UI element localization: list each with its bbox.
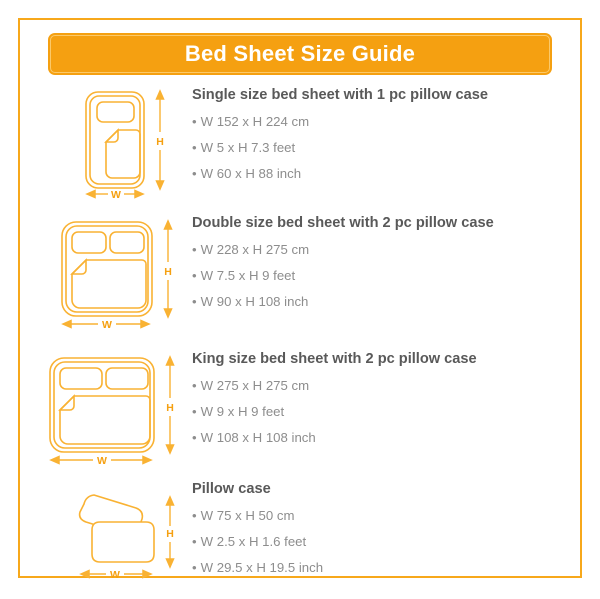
king-text-block: King size bed sheet with 2 pc pillow cas… (192, 352, 560, 457)
bullet-dot: • (192, 114, 197, 129)
bullet-text: W 29.5 x H 19.5 inch (201, 560, 323, 575)
bullet-dot: • (192, 242, 197, 257)
svg-text:W: W (97, 455, 107, 467)
svg-text:H: H (164, 266, 172, 278)
bullet-text: W 108 x H 108 inch (201, 430, 316, 445)
bullet-text: W 75 x H 50 cm (201, 508, 295, 523)
pillow-text-block: Pillow case •W 75 x H 50 cm •W 2.5 x H 1… (192, 482, 560, 587)
title-banner-inner: Bed Sheet Size Guide (50, 35, 550, 73)
page-title: Bed Sheet Size Guide (185, 43, 415, 65)
bullet-text: W 90 x H 108 inch (201, 294, 309, 309)
single-text-block: Single size bed sheet with 1 pc pillow c… (192, 88, 560, 193)
bullet-dot: • (192, 378, 197, 393)
list-item: •W 75 x H 50 cm (192, 509, 560, 522)
title-banner: Bed Sheet Size Guide (48, 33, 552, 75)
list-item: •W 2.5 x H 1.6 feet (192, 535, 560, 548)
bullet-dot: • (192, 508, 197, 523)
bullet-dot: • (192, 166, 197, 181)
list-item: •W 29.5 x H 19.5 inch (192, 561, 560, 574)
list-item: •W 275 x H 275 cm (192, 379, 560, 392)
bullet-dot: • (192, 294, 197, 309)
section-pillow-case: H W Pillow case •W 75 x H 50 cm •W 2.5 x… (40, 482, 560, 594)
bullet-dot: • (192, 268, 197, 283)
bullet-text: W 228 x H 275 cm (201, 242, 309, 257)
bullet-text: W 5 x H 7.3 feet (201, 140, 296, 155)
king-bullet-list: •W 275 x H 275 cm •W 9 x H 9 feet •W 108… (192, 379, 560, 445)
bullet-text: W 7.5 x H 9 feet (201, 268, 296, 283)
list-item: •W 9 x H 9 feet (192, 405, 560, 418)
double-bullet-list: •W 228 x H 275 cm •W 7.5 x H 9 feet •W 9… (192, 243, 560, 309)
svg-text:H: H (156, 136, 164, 148)
bullet-text: W 60 x H 88 inch (201, 166, 301, 181)
single-bullet-list: •W 152 x H 224 cm •W 5 x H 7.3 feet •W 6… (192, 115, 560, 181)
section-double: H W Double size bed sheet with 2 pc pill… (40, 216, 560, 344)
list-item: •W 152 x H 224 cm (192, 115, 560, 128)
king-bed-diagram: H W (40, 352, 190, 464)
double-bed-diagram: H W (40, 216, 190, 328)
single-bed-diagram: H W (40, 88, 190, 200)
svg-text:W: W (102, 319, 112, 331)
double-text-block: Double size bed sheet with 2 pc pillow c… (192, 216, 560, 321)
bullet-dot: • (192, 404, 197, 419)
svg-text:W: W (110, 569, 120, 581)
list-item: •W 90 x H 108 inch (192, 295, 560, 308)
section-king: H W King size bed sheet with 2 pc pillow… (40, 352, 560, 476)
list-item: •W 5 x H 7.3 feet (192, 141, 560, 154)
pillow-case-diagram: H W (40, 482, 190, 594)
pillow-bullet-list: •W 75 x H 50 cm •W 2.5 x H 1.6 feet •W 2… (192, 509, 560, 575)
bullet-dot: • (192, 140, 197, 155)
bullet-text: W 152 x H 224 cm (201, 114, 309, 129)
list-item: •W 7.5 x H 9 feet (192, 269, 560, 282)
svg-text:H: H (166, 402, 174, 414)
bullet-text: W 9 x H 9 feet (201, 404, 285, 419)
list-item: •W 108 x H 108 inch (192, 431, 560, 444)
bullet-text: W 275 x H 275 cm (201, 378, 309, 393)
double-heading: Double size bed sheet with 2 pc pillow c… (192, 216, 560, 231)
bullet-text: W 2.5 x H 1.6 feet (201, 534, 307, 549)
list-item: •W 228 x H 275 cm (192, 243, 560, 256)
section-single: H W Single size bed sheet with 1 pc pill… (40, 88, 560, 206)
bullet-dot: • (192, 534, 197, 549)
pillow-heading: Pillow case (192, 482, 560, 497)
infographic-page: Bed Sheet Size Guide (0, 0, 600, 599)
list-item: •W 60 x H 88 inch (192, 167, 560, 180)
single-heading: Single size bed sheet with 1 pc pillow c… (192, 88, 560, 103)
bullet-dot: • (192, 560, 197, 575)
svg-text:H: H (166, 528, 174, 540)
bullet-dot: • (192, 430, 197, 445)
king-heading: King size bed sheet with 2 pc pillow cas… (192, 352, 560, 367)
svg-text:W: W (111, 189, 121, 200)
